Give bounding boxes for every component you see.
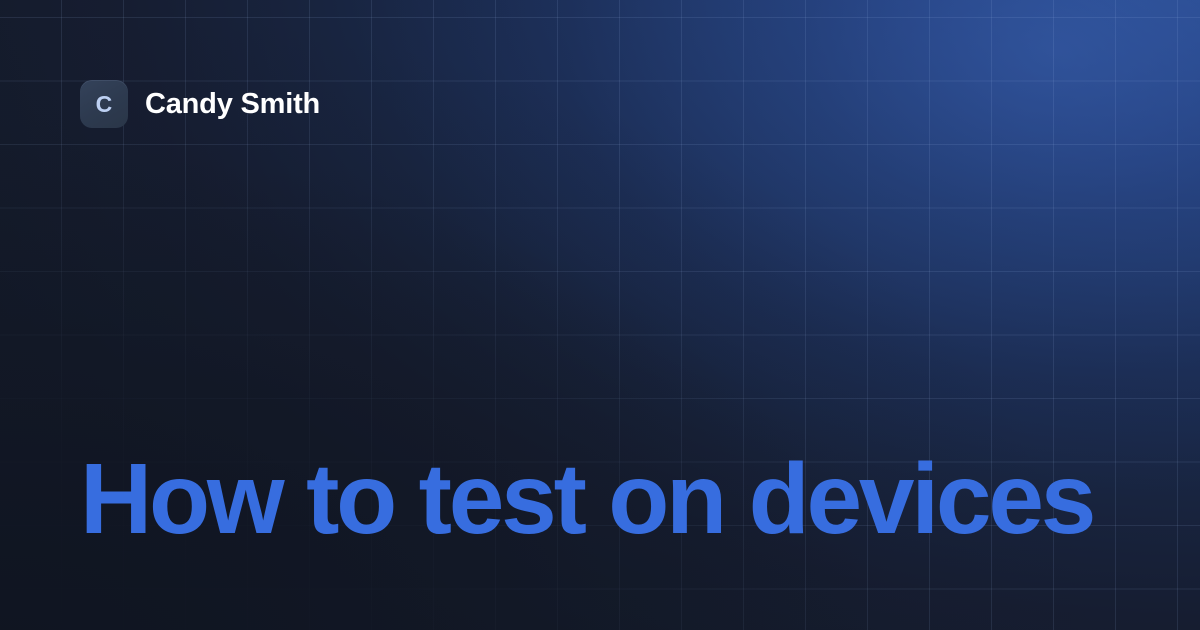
social-share-card: C Candy Smith How to test on devices: [0, 0, 1200, 630]
avatar: C: [80, 80, 128, 128]
author-byline: C Candy Smith: [80, 80, 320, 128]
card-content: C Candy Smith How to test on devices: [0, 0, 1200, 630]
author-name-label: Candy Smith: [145, 90, 320, 119]
page-title: How to test on devices: [80, 446, 1120, 552]
avatar-initial-label: C: [96, 93, 113, 116]
